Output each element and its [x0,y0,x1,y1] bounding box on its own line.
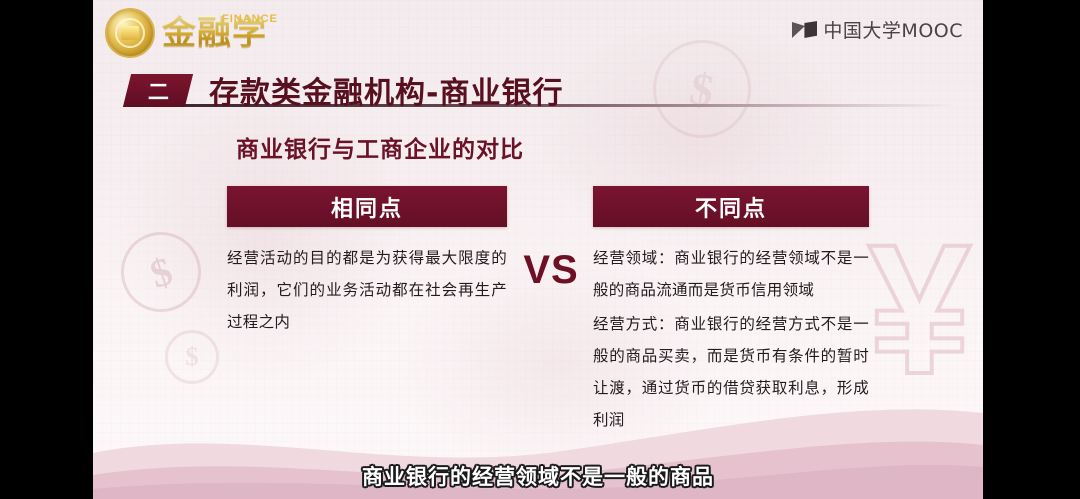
comparison-column-similarities: 相同点 经营活动的目的都是为获得最大限度的利润，它们的业务活动都在社会再生产过程… [227,186,507,339]
differences-body: 经营领域：商业银行的经营领域不是一般的商品流通而是货币信用领域 经营方式：商业银… [593,243,869,437]
differences-paragraph: 经营领域：商业银行的经营领域不是一般的商品流通而是货币信用领域 [593,243,869,307]
video-caption-text: 商业银行的经营领域不是一般的商品 [362,465,714,489]
coin-watermark-icon: $ [645,32,759,146]
platform-name: 中国大学MOOC [823,16,963,43]
section-number-label: 二 [148,75,169,105]
slide-subtitle: 商业银行与工商企业的对比 [236,130,524,164]
platform-logo: 中国大学MOOC [792,16,963,43]
vs-label: VS [511,248,591,293]
section-title: 二 存款类金融机构-商业银行 [127,68,563,112]
gold-seal-icon [105,8,155,58]
differences-paragraph: 经营方式：商业银行的经营方式不是一般的商品买卖，而是货币有条件的暂时让渡，通过货… [593,309,869,437]
video-player-frame: $ $ $ ¥ 金融学 FINANCE [0,0,1080,499]
presentation-slide: $ $ $ ¥ 金融学 FINANCE [93,0,983,499]
seal-core [121,26,139,40]
video-caption: 商业银行的经营领域不是一般的商品 [93,461,983,491]
letterbox-left [0,0,93,499]
comparison-column-differences: 不同点 经营领域：商业银行的经营领域不是一般的商品流通而是货币信用领域 经营方式… [593,186,869,437]
section-title-text: 存款类金融机构-商业银行 [209,68,563,112]
logo-english-name: FINANCE [222,13,278,25]
logo-wordmark: 金融学 FINANCE [162,16,267,50]
similarities-header-label: 相同点 [331,191,403,223]
comparison-section: 相同点 经营活动的目的都是为获得最大限度的利润，它们的业务活动都在社会再生产过程… [93,186,983,456]
course-logo: 金融学 FINANCE [105,8,267,58]
differences-header-label: 不同点 [695,191,767,223]
similarities-header: 相同点 [227,186,507,227]
open-book-icon [792,21,817,38]
similarities-paragraph: 经营活动的目的都是为获得最大限度的利润，它们的业务活动都在社会再生产过程之内 [227,243,507,339]
section-number-badge: 二 [123,74,193,107]
similarities-body: 经营活动的目的都是为获得最大限度的利润，它们的业务活动都在社会再生产过程之内 [227,243,507,339]
letterbox-right [983,0,1080,499]
differences-header: 不同点 [593,186,869,227]
